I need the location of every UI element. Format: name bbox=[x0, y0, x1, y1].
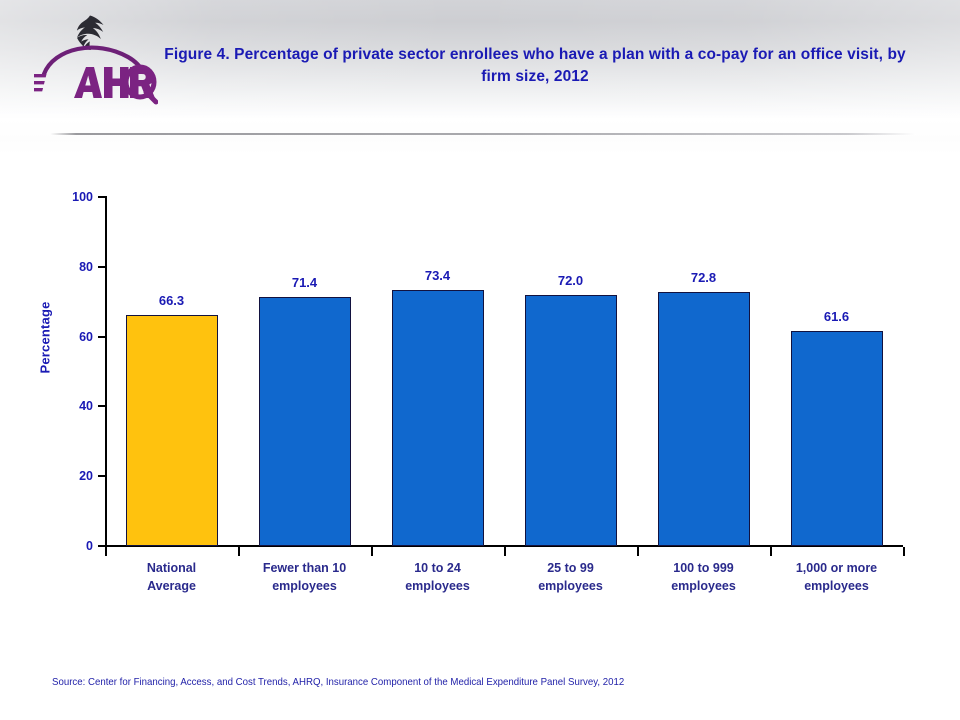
y-tick-label: 100 bbox=[47, 190, 93, 204]
y-tick-label: 40 bbox=[47, 399, 93, 413]
bar[interactable] bbox=[791, 331, 883, 546]
bar[interactable] bbox=[525, 295, 617, 546]
x-tick-mark bbox=[770, 547, 772, 556]
x-tick-mark bbox=[504, 547, 506, 556]
x-tick-mark bbox=[637, 547, 639, 556]
bar[interactable] bbox=[392, 290, 484, 546]
category-label-line: National bbox=[106, 559, 238, 577]
category-label-line: employees bbox=[638, 577, 770, 595]
category-label: Fewer than 10employees bbox=[239, 559, 371, 595]
bar[interactable] bbox=[259, 297, 351, 546]
y-tick-label: 60 bbox=[47, 330, 93, 344]
bar-value-label: 72.8 bbox=[664, 270, 744, 285]
category-label-line: employees bbox=[239, 577, 371, 595]
y-tick-label: 80 bbox=[47, 260, 93, 274]
bar[interactable] bbox=[126, 315, 218, 546]
category-label: 1,000 or moreemployees bbox=[771, 559, 903, 595]
bar-value-label: 66.3 bbox=[132, 293, 212, 308]
category-label: NationalAverage bbox=[106, 559, 238, 595]
category-label: 100 to 999employees bbox=[638, 559, 770, 595]
category-label: 10 to 24employees bbox=[372, 559, 504, 595]
x-tick-mark bbox=[238, 547, 240, 556]
category-label-line: 1,000 or more bbox=[771, 559, 903, 577]
bar-value-label: 72.0 bbox=[531, 273, 611, 288]
y-tick-mark bbox=[98, 266, 106, 268]
x-tick-mark bbox=[105, 547, 107, 556]
y-axis-line bbox=[105, 196, 107, 547]
category-label-line: employees bbox=[372, 577, 504, 595]
x-tick-mark bbox=[371, 547, 373, 556]
category-label-line: Fewer than 10 bbox=[239, 559, 371, 577]
category-label-line: employees bbox=[505, 577, 637, 595]
y-tick-label: 0 bbox=[47, 539, 93, 553]
bar-value-label: 61.6 bbox=[797, 309, 877, 324]
category-label-line: Average bbox=[106, 577, 238, 595]
y-tick-mark bbox=[98, 196, 106, 198]
bar-value-label: 73.4 bbox=[398, 268, 478, 283]
y-tick-label: 20 bbox=[47, 469, 93, 483]
category-label-line: 100 to 999 bbox=[638, 559, 770, 577]
y-tick-mark bbox=[98, 475, 106, 477]
y-tick-mark bbox=[98, 336, 106, 338]
x-tick-mark bbox=[903, 547, 905, 556]
bar[interactable] bbox=[658, 292, 750, 546]
bar-chart: Percentage 020406080100 66.371.473.472.0… bbox=[0, 0, 960, 720]
category-label-line: 10 to 24 bbox=[372, 559, 504, 577]
y-tick-mark bbox=[98, 405, 106, 407]
category-label-line: 25 to 99 bbox=[505, 559, 637, 577]
category-label-line: employees bbox=[771, 577, 903, 595]
bar-value-label: 71.4 bbox=[265, 275, 345, 290]
source-note: Source: Center for Financing, Access, an… bbox=[52, 676, 624, 688]
category-label: 25 to 99employees bbox=[505, 559, 637, 595]
